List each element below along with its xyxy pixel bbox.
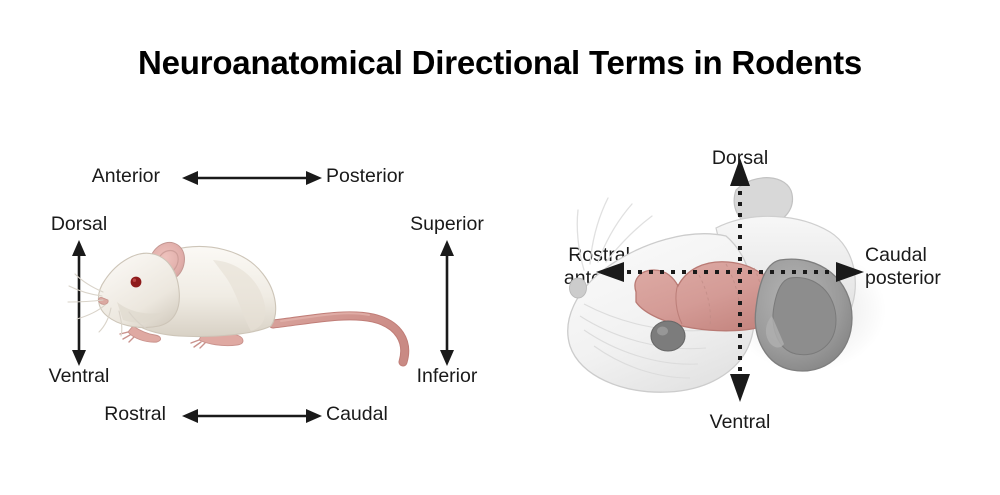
arrow-dorsal-ventral-left [67, 240, 91, 366]
axes-crosshair-dotted [520, 120, 1000, 420]
panel-whole-body-lateral: Anterior Posterior Dorsal Ventral Superi… [0, 0, 520, 495]
arrow-superior-inferior [435, 240, 459, 366]
figure-canvas: Neuroanatomical Directional Terms in Rod… [0, 0, 1000, 495]
label-posterior: Posterior [326, 166, 404, 188]
label-rostral-left: Rostral [70, 404, 166, 426]
arrow-rostral-caudal [182, 404, 322, 428]
arrow-anterior-posterior [182, 166, 322, 190]
panel-head-sagittal: Dorsal Ventral Rostral anterior Caudal p… [520, 0, 1000, 495]
label-anterior: Anterior [60, 166, 160, 188]
label-caudal-left: Caudal [326, 404, 388, 426]
mouse-lateral-illustration [95, 220, 425, 370]
